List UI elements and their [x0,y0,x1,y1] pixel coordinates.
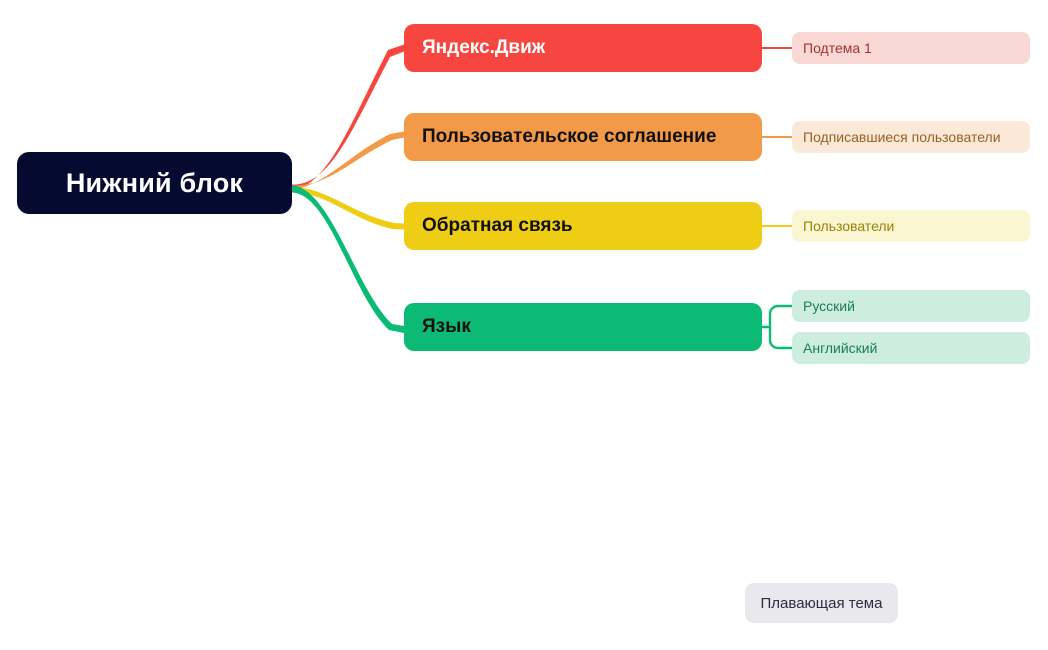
subtopic-node-podtema-1[interactable]: Подтема 1 [792,32,1030,64]
branch-root-to-topic-1 [292,132,404,191]
subtopic-node-label: Английский [803,340,877,356]
subtopic-node-label: Пользователи [803,218,894,234]
subtopic-node-users[interactable]: Пользователи [792,210,1030,242]
connector-topic-3-bracket [762,306,792,348]
root-node[interactable]: Нижний блок [17,152,292,214]
topic-node-label: Язык [422,316,471,338]
branch-root-to-topic-2 [292,187,404,230]
subtopic-node-subscribed-users[interactable]: Подписавшиеся пользователи [792,121,1030,153]
floating-topic-node[interactable]: Плавающая тема [745,583,898,623]
subtopic-node-label: Подтема 1 [803,40,872,56]
subtopic-node-russian[interactable]: Русский [792,290,1030,322]
floating-topic-label: Плавающая тема [761,595,883,612]
topic-node-feedback[interactable]: Обратная связь [404,202,762,250]
branch-root-to-topic-0 [292,45,404,192]
subtopic-node-english[interactable]: Английский [792,332,1030,364]
topic-node-yandex-dvizh[interactable]: Яндекс.Движ [404,24,762,72]
topic-node-label: Яндекс.Движ [422,37,545,59]
topic-node-label: Пользовательское соглашение [422,126,716,148]
topic-node-user-agreement[interactable]: Пользовательское соглашение [404,113,762,161]
subtopic-node-label: Подписавшиеся пользователи [803,129,1001,145]
topic-node-language[interactable]: Язык [404,303,762,351]
subtopic-node-label: Русский [803,298,855,314]
topic-node-label: Обратная связь [422,215,573,237]
root-node-label: Нижний блок [66,168,243,199]
mindmap-canvas[interactable]: Нижний блок Яндекс.Движ Пользовательское… [0,0,1048,650]
branch-root-to-topic-3 [292,185,404,333]
